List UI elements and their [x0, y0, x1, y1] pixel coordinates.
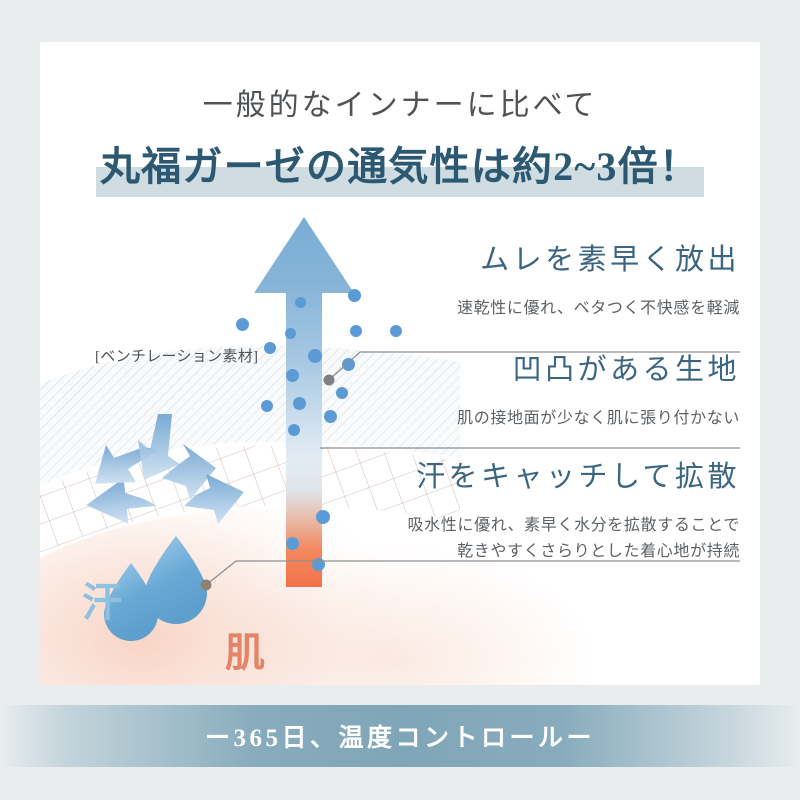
skin-label: 肌 [225, 620, 266, 678]
feature-2-title: 凹凸がある生地 [380, 355, 740, 387]
feature-3: 汗をキャッチして拡散 吸水性に優れ、素早く水分を拡散することで 乾きやすくさらり… [330, 462, 740, 565]
feature-2-desc-line-1: 肌の接地面が少なく肌に張り付かない [380, 406, 740, 432]
feature-1-desc-line-1: 速乾性に優れ、ベタつく不快感を軽減 [380, 296, 740, 322]
sweat-label: 汗 [82, 570, 123, 628]
content-card: 一般的なインナーに比べて 丸福ガーゼの通気性は約2~3倍！ [40, 42, 760, 685]
feature-3-desc-line-2: 乾きやすくさらりとした着心地が持続 [330, 539, 740, 565]
bottom-banner-text: ー365日、温度コントロールー [205, 718, 595, 754]
feature-1: ムレを素早く放出 速乾性に優れ、ベタつく不快感を軽減 [380, 245, 740, 322]
infographic-canvas: 一般的なインナーに比べて 丸福ガーゼの通気性は約2~3倍！ [0, 0, 800, 800]
feature-2: 凹凸がある生地 肌の接地面が少なく肌に張り付かない [380, 355, 740, 432]
feature-1-title: ムレを素早く放出 [380, 245, 740, 277]
feature-3-desc-line-1: 吸水性に優れ、素早く水分を拡散することで [330, 513, 740, 539]
feature-3-title: 汗をキャッチして拡散 [330, 462, 740, 494]
ventilation-material-label: [ベンチレーション素材] [95, 345, 258, 366]
bottom-banner: ー365日、温度コントロールー [0, 705, 800, 767]
